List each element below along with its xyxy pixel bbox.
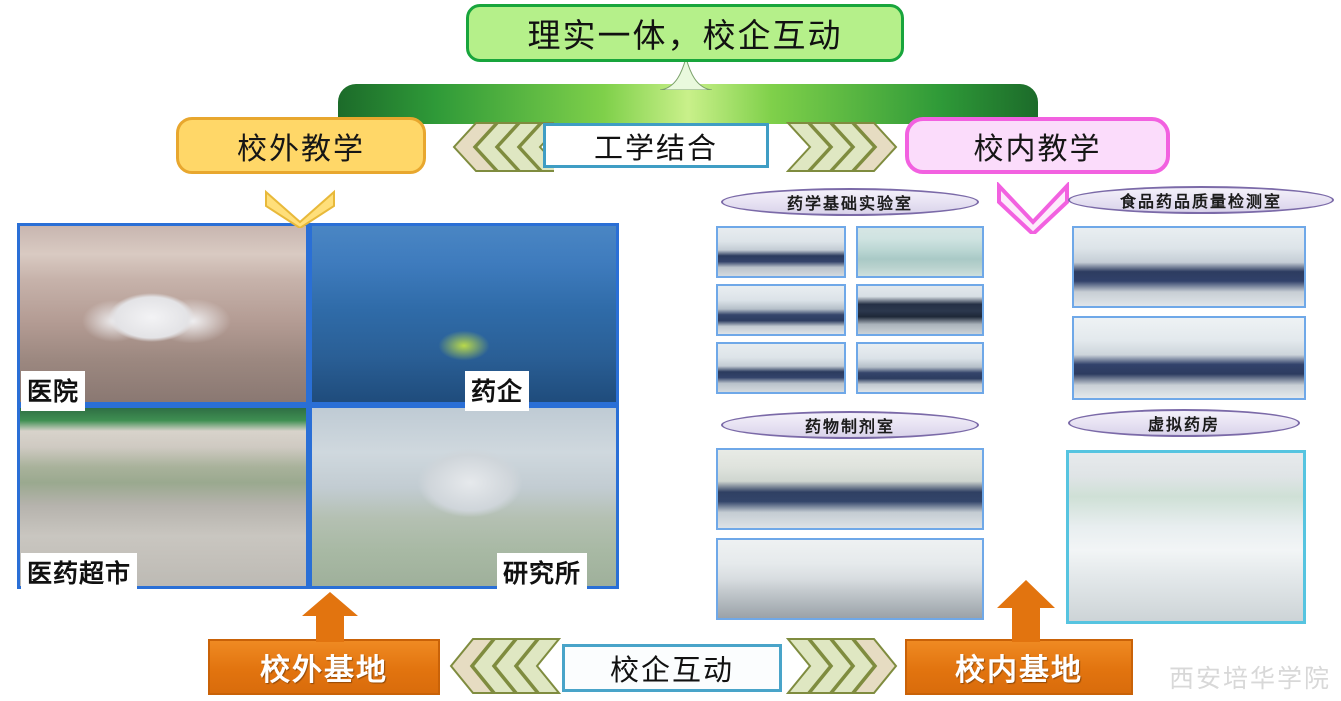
- watermark: 西安培华学院: [1166, 658, 1334, 696]
- label-offcampus-teaching[interactable]: 校外教学: [176, 117, 426, 174]
- label-school-enterprise-interaction-text: 校企互动: [610, 647, 734, 689]
- oval-label-pharmacy-basic-lab: 药学基础实验室: [721, 188, 979, 216]
- label-work-study-integration-text: 工学结合: [594, 125, 718, 167]
- oval-label-virtual-pharmacy: 虚拟药房: [1068, 409, 1300, 437]
- label-offcampus-teaching-text: 校外教学: [237, 124, 365, 168]
- oval-label-food-drug-quality-lab-text: 食品药品质量检测室: [1120, 188, 1282, 212]
- photo-lab-3: [716, 284, 846, 336]
- photo-virtual-pharmacy: [1066, 450, 1306, 624]
- food-drug-quality-lab-photos: [1072, 226, 1306, 400]
- title-connector-icon: [660, 58, 712, 90]
- oval-label-food-drug-quality-lab: 食品药品质量检测室: [1068, 186, 1334, 214]
- caption-institute: 研究所: [497, 553, 587, 593]
- chevron-down-icon-yellow: [262, 188, 338, 228]
- oval-label-drug-preparation-room-text: 药物制剂室: [805, 413, 895, 437]
- photo-quality-1: [1072, 226, 1306, 308]
- photo-lab-5: [716, 342, 846, 394]
- oval-label-pharmacy-basic-lab-text: 药学基础实验室: [787, 190, 913, 214]
- slide-canvas: 理实一体，校企互动 校外教学 工学结合 校内教学: [0, 0, 1341, 701]
- label-offcampus-base[interactable]: 校外基地: [208, 639, 440, 695]
- label-offcampus-base-text: 校外基地: [260, 645, 388, 689]
- chevrons-left-icon-bottom: [447, 637, 567, 695]
- label-oncampus-base-text: 校内基地: [955, 645, 1083, 689]
- chevron-down-icon-pink: [995, 182, 1071, 234]
- slide-title-text: 理实一体，校企互动: [528, 9, 843, 57]
- oval-label-virtual-pharmacy-text: 虚拟药房: [1148, 411, 1220, 435]
- photo-lab-4: [856, 284, 984, 336]
- label-oncampus-teaching-text: 校内教学: [974, 124, 1102, 168]
- photo-prep-1: [716, 448, 984, 530]
- caption-hospital: 医院: [21, 371, 85, 411]
- offcampus-photo-grid: 医院 药企 医药超市 研究所: [17, 223, 619, 589]
- label-oncampus-base[interactable]: 校内基地: [905, 639, 1133, 695]
- photo-lab-1: [716, 226, 846, 278]
- photo-lab-6: [856, 342, 984, 394]
- chevrons-right-icon-bottom: [786, 637, 906, 695]
- photo-pharma: [309, 223, 619, 405]
- photo-lab-2: [856, 226, 984, 278]
- chevrons-left-icon: [450, 121, 554, 173]
- slide-title-box: 理实一体，校企互动: [466, 4, 904, 62]
- label-work-study-integration[interactable]: 工学结合: [543, 123, 769, 168]
- caption-market: 医药超市: [21, 553, 137, 593]
- caption-pharma: 药企: [465, 371, 529, 411]
- label-school-enterprise-interaction[interactable]: 校企互动: [562, 644, 782, 692]
- pharmacy-basic-lab-photos: [716, 226, 984, 396]
- drug-preparation-photos: [716, 448, 984, 620]
- photo-quality-2: [1072, 316, 1306, 400]
- arrow-up-icon-right: [995, 580, 1057, 642]
- oval-label-drug-preparation-room: 药物制剂室: [721, 411, 979, 439]
- label-oncampus-teaching[interactable]: 校内教学: [905, 117, 1170, 174]
- arrow-up-icon-left: [300, 592, 360, 642]
- photo-prep-2: [716, 538, 984, 620]
- chevrons-right-icon: [786, 121, 902, 173]
